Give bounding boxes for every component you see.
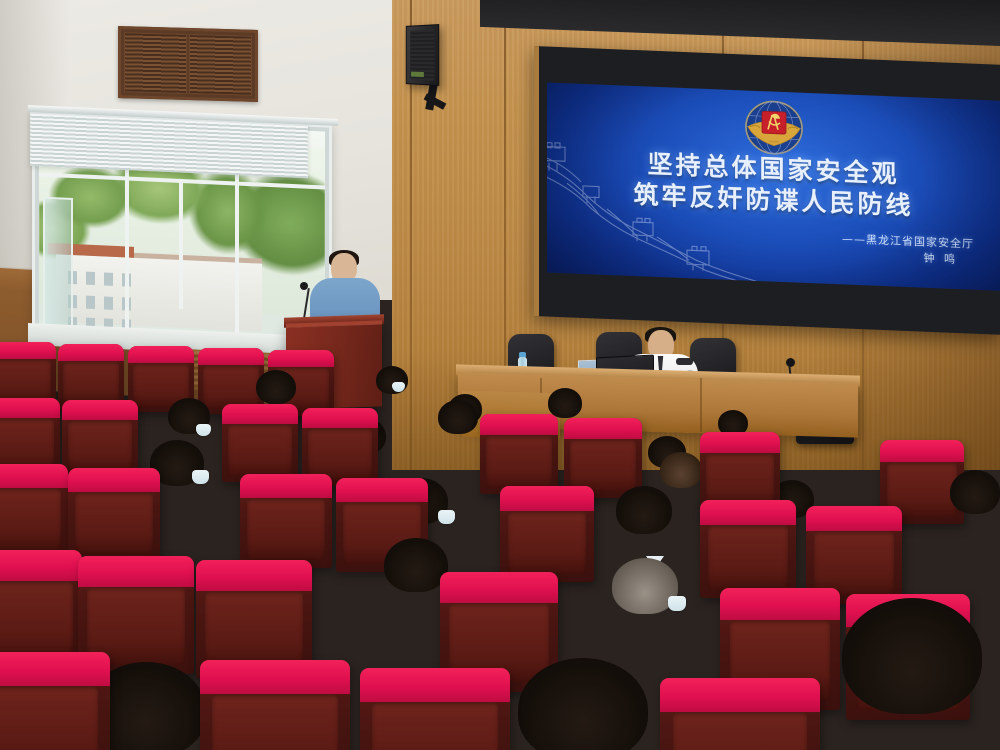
seat[interactable] <box>480 414 558 494</box>
seat[interactable] <box>500 486 594 582</box>
building-outside <box>56 249 262 332</box>
person-hair <box>384 538 448 592</box>
seat-back <box>0 488 61 550</box>
vent-louver-right <box>189 34 252 96</box>
seat-top-rail <box>0 464 68 488</box>
seat-top-rail <box>480 414 558 435</box>
seat-back <box>486 435 552 488</box>
seat-back <box>75 492 152 554</box>
face-mask <box>668 596 686 611</box>
seat-top-rail <box>500 486 594 511</box>
seat-top-rail <box>660 678 820 712</box>
person-hair <box>616 486 672 534</box>
person-hair <box>660 452 702 488</box>
vent-louver-left <box>124 32 187 94</box>
seat-top-rail <box>62 400 138 420</box>
seat[interactable] <box>68 468 160 562</box>
seat-back <box>372 702 498 750</box>
seat-top-rail <box>564 418 642 439</box>
seat-back <box>203 365 258 409</box>
person-hair <box>438 400 478 434</box>
seat-top-rail <box>0 398 60 418</box>
slide-vignette <box>547 83 1000 291</box>
audience-member <box>950 470 1000 514</box>
seat-top-rail <box>200 660 350 694</box>
presentation-slide: 坚持总体国家安全观 筑牢反奸防谍人民防线 ——黑龙江省国家安全厅 钟 鸣 <box>547 83 1000 291</box>
seat-top-rail <box>302 408 378 428</box>
seat-back <box>212 694 338 750</box>
seat[interactable] <box>240 474 332 568</box>
table-panel-seam <box>700 378 702 432</box>
loudspeaker-icon <box>406 24 439 86</box>
face-mask <box>438 510 455 524</box>
seat[interactable] <box>200 660 350 750</box>
seat-back <box>570 439 636 492</box>
seat-back <box>0 359 51 403</box>
seat[interactable] <box>0 652 110 750</box>
seat-top-rail <box>700 432 780 453</box>
seat-back <box>308 428 372 480</box>
seat-back <box>0 418 54 470</box>
ceiling-vent-grille-icon <box>118 26 258 102</box>
person-hair <box>518 658 648 750</box>
audience-member <box>256 370 296 404</box>
seat[interactable] <box>700 500 796 598</box>
seat-back <box>814 531 895 596</box>
audience-member <box>842 598 982 714</box>
podium-microphone-icon <box>300 282 308 290</box>
audience-member <box>518 658 648 750</box>
seat-back <box>673 712 807 750</box>
seat-top-rail <box>0 652 110 686</box>
seat-back <box>247 498 324 560</box>
seat-back <box>63 361 118 405</box>
seat-back <box>228 424 292 476</box>
seat-back <box>708 525 789 590</box>
person-hair <box>548 388 582 418</box>
seat-back <box>68 420 132 472</box>
seat-top-rail <box>880 440 964 462</box>
person-hair <box>950 470 1000 514</box>
seat-top-rail <box>0 342 56 359</box>
seat-back <box>0 686 98 750</box>
seat-top-rail <box>68 468 160 492</box>
audience-member <box>438 400 478 434</box>
window-mullion <box>179 179 183 309</box>
audience-member <box>660 452 702 488</box>
seat-top-rail <box>78 556 194 587</box>
seat-top-rail <box>440 572 558 603</box>
seat[interactable] <box>360 668 510 750</box>
seat-back <box>205 591 302 669</box>
seat-top-rail <box>0 550 82 581</box>
seat[interactable] <box>222 404 298 482</box>
projection-screen[interactable]: 坚持总体国家安全观 筑牢反奸防谍人民防线 ——黑龙江省国家安全厅 钟 鸣 <box>534 46 1000 335</box>
seat-top-rail <box>268 350 334 367</box>
audience-member <box>384 538 448 592</box>
seat-top-rail <box>240 474 332 498</box>
seat-top-rail <box>700 500 796 525</box>
seat-top-rail <box>720 588 840 620</box>
seat-top-rail <box>128 346 194 363</box>
face-mask <box>196 424 211 436</box>
seat-top-rail <box>336 478 428 502</box>
seat-back <box>508 511 587 574</box>
seat-top-rail <box>360 668 510 702</box>
person-hair <box>256 370 296 404</box>
seat-top-rail <box>198 348 264 365</box>
seat-top-rail <box>58 344 124 361</box>
seat[interactable] <box>62 400 138 478</box>
person-hair <box>842 598 982 714</box>
audience-member <box>616 486 672 534</box>
seat-top-rail <box>196 560 312 591</box>
auditorium-scene: 坚持总体国家安全观 筑牢反奸防谍人民防线 ——黑龙江省国家安全厅 钟 鸣 <box>0 0 1000 750</box>
seat[interactable] <box>0 550 82 668</box>
seat[interactable] <box>0 464 68 558</box>
officer-epaulet <box>676 358 693 365</box>
table-microphone-icon <box>786 358 795 367</box>
seat-top-rail <box>222 404 298 424</box>
face-mask <box>192 470 209 484</box>
seat-top-rail <box>806 506 902 531</box>
seat-back <box>0 581 73 659</box>
seat[interactable] <box>660 678 820 750</box>
audience-member <box>548 388 582 418</box>
speaker-badge <box>411 72 424 77</box>
